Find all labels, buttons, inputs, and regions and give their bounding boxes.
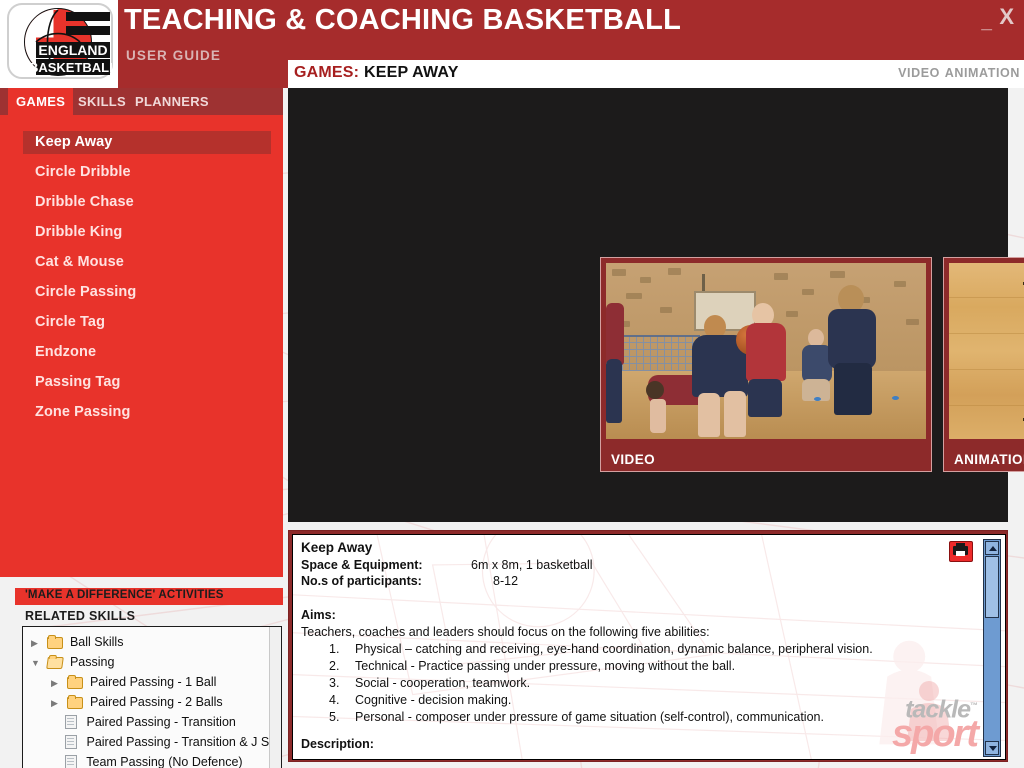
tree-item-passing[interactable]: ▼ Passing bbox=[31, 652, 114, 672]
video-caption: VIDEO bbox=[611, 452, 655, 467]
folder-open-icon bbox=[47, 656, 62, 668]
printer-icon bbox=[953, 546, 968, 555]
tackle-sport-figure-icon bbox=[899, 679, 957, 741]
sidebar-item-endzone[interactable]: Endzone bbox=[23, 341, 271, 364]
aim-text: Personal - composer under pressure of ga… bbox=[355, 710, 824, 724]
sidebar-item-circle-tag[interactable]: Circle Tag bbox=[23, 311, 271, 334]
page-title: KEEP AWAY bbox=[364, 64, 459, 82]
minimize-button[interactable]: _ bbox=[981, 12, 992, 34]
animation-court: 4 2 3 1 T Reds 0 Blues 0 bbox=[949, 263, 1024, 439]
document-icon bbox=[64, 715, 79, 728]
application-window: ENGLAND BASKETBALL TEACHING & COACHING B… bbox=[0, 0, 1024, 768]
participants-value: 8-12 bbox=[493, 574, 518, 588]
related-skills-heading: RELATED SKILLS bbox=[25, 609, 135, 623]
breadcrumb-section: GAMES: bbox=[294, 64, 359, 82]
trademark-symbol: ™ bbox=[970, 701, 977, 710]
app-title: TEACHING & COACHING BASKETBALL bbox=[124, 4, 681, 37]
sidebar-item-circle-passing[interactable]: Circle Passing bbox=[23, 281, 271, 304]
folder-icon bbox=[67, 676, 82, 688]
logo-text-england: ENGLAND bbox=[38, 42, 107, 58]
tree-item-label: Paired Passing - 2 Balls bbox=[90, 695, 223, 709]
chevron-down-icon[interactable]: ▼ bbox=[31, 653, 44, 673]
close-button[interactable]: X bbox=[999, 4, 1014, 30]
scrollbar-thumb[interactable] bbox=[985, 556, 999, 618]
tree-item-paired-passing-transition[interactable]: Paired Passing - Transition bbox=[64, 712, 236, 732]
aim-text: Physical – catching and receiving, eye-h… bbox=[355, 642, 873, 656]
aims-label: Aims: bbox=[301, 608, 336, 622]
tab-animation[interactable]: ANIMATION bbox=[945, 66, 1020, 80]
animation-card[interactable]: 4 2 3 1 T Reds 0 Blues 0 ANIMATION bbox=[943, 257, 1024, 472]
sidebar-item-cat-and-mouse[interactable]: Cat & Mouse bbox=[23, 251, 271, 274]
description-section-label: Description: bbox=[301, 737, 374, 751]
tree-item-label: Passing bbox=[70, 655, 114, 669]
chevron-right-icon[interactable]: ▶ bbox=[31, 633, 44, 653]
tree-item-label: Paired Passing - 1 Ball bbox=[90, 675, 216, 689]
aim-number: 3. bbox=[329, 676, 339, 690]
tree-item-label: Ball Skills bbox=[70, 635, 124, 649]
space-equipment-label: Space & Equipment: bbox=[301, 558, 423, 572]
aim-text: Social - cooperation, teamwork. bbox=[355, 676, 530, 690]
aim-number: 4. bbox=[329, 693, 339, 707]
tree-item-team-passing-no-defence[interactable]: Team Passing (No Defence) bbox=[64, 752, 243, 768]
aim-number: 2. bbox=[329, 659, 339, 673]
left-sidebar: GAMES SKILLS PLANNERS Keep Away Circle D… bbox=[0, 88, 283, 768]
animation-caption: ANIMATION bbox=[954, 452, 1024, 467]
description-panel: Keep Away Space & Equipment: 6m x 8m, 1 … bbox=[288, 530, 1008, 762]
scroll-down-button[interactable] bbox=[985, 741, 999, 755]
make-a-difference-label: 'MAKE A DIFFERENCE' ACTIVITIES bbox=[25, 589, 224, 601]
breadcrumb-bar: GAMES: KEEP AWAY VIDEO ANIMATION bbox=[288, 60, 1024, 88]
tree-item-label: Paired Passing - Transition bbox=[86, 715, 235, 729]
make-a-difference-banner[interactable]: 'MAKE A DIFFERENCE' ACTIVITIES bbox=[15, 588, 283, 605]
tree-item-paired-passing-1-ball[interactable]: ▶ Paired Passing - 1 Ball bbox=[51, 672, 216, 692]
print-button[interactable] bbox=[949, 541, 973, 562]
media-stage: VIDEO 4 2 bbox=[288, 88, 1008, 522]
england-basketball-logo: ENGLAND BASKETBALL bbox=[6, 2, 114, 86]
description-content: Keep Away Space & Equipment: 6m x 8m, 1 … bbox=[292, 534, 1006, 760]
video-frame[interactable] bbox=[606, 263, 926, 439]
tree-item-label: Team Passing (No Defence) bbox=[86, 755, 242, 768]
app-subtitle: USER GUIDE bbox=[126, 48, 221, 63]
tab-planners[interactable]: PLANNERS bbox=[127, 88, 217, 115]
tree-item-paired-passing-transition-js[interactable]: Paired Passing - Transition & J S bbox=[64, 732, 269, 752]
related-skills-tree[interactable]: ▶ Ball Skills ▼ Passing ▶ Paired Passing… bbox=[22, 626, 282, 768]
tab-skills[interactable]: SKILLS bbox=[70, 88, 134, 115]
scroll-up-arrow-icon bbox=[989, 546, 997, 551]
sidebar-item-circle-dribble[interactable]: Circle Dribble bbox=[23, 161, 271, 184]
scroll-up-button[interactable] bbox=[985, 541, 999, 555]
aim-text: Cognitive - decision making. bbox=[355, 693, 511, 707]
tab-video[interactable]: VIDEO bbox=[898, 66, 940, 80]
chevron-right-icon[interactable]: ▶ bbox=[51, 693, 64, 713]
sidebar-item-dribble-chase[interactable]: Dribble Chase bbox=[23, 191, 271, 214]
description-title: Keep Away bbox=[301, 540, 372, 555]
participants-label: No.s of participants: bbox=[301, 574, 422, 588]
tree-item-paired-passing-2-balls[interactable]: ▶ Paired Passing - 2 Balls bbox=[51, 692, 223, 712]
tree-item-ball-skills[interactable]: ▶ Ball Skills bbox=[31, 632, 123, 652]
document-icon bbox=[64, 755, 79, 768]
tree-item-label: Paired Passing - Transition & J S bbox=[86, 735, 269, 749]
space-equipment-value: 6m x 8m, 1 basketball bbox=[471, 558, 593, 572]
folder-icon bbox=[47, 636, 62, 648]
sidebar-item-zone-passing[interactable]: Zone Passing bbox=[23, 401, 271, 424]
sidebar-tabs: GAMES SKILLS PLANNERS bbox=[0, 88, 283, 115]
games-list: Keep Away Circle Dribble Dribble Chase D… bbox=[0, 115, 283, 577]
logo-text-basketball: BASKETBALL bbox=[29, 60, 114, 75]
description-scrollbar[interactable] bbox=[983, 539, 1001, 757]
aim-number: 1. bbox=[329, 642, 339, 656]
chevron-right-icon[interactable]: ▶ bbox=[51, 673, 64, 693]
document-icon bbox=[64, 735, 79, 748]
tab-games[interactable]: GAMES bbox=[8, 88, 73, 115]
animation-frame[interactable]: 4 2 3 1 T Reds 0 Blues 0 bbox=[949, 263, 1024, 439]
aims-lead-text: Teachers, coaches and leaders should foc… bbox=[301, 625, 710, 639]
scroll-down-arrow-icon bbox=[989, 746, 997, 751]
video-still-image bbox=[606, 263, 926, 439]
folder-icon bbox=[67, 696, 82, 708]
sidebar-item-keep-away[interactable]: Keep Away bbox=[23, 131, 271, 154]
sidebar-item-passing-tag[interactable]: Passing Tag bbox=[23, 371, 271, 394]
aim-text: Technical - Practice passing under press… bbox=[355, 659, 735, 673]
tree-scrollbar[interactable] bbox=[269, 627, 281, 768]
aim-number: 5. bbox=[329, 710, 339, 724]
video-card[interactable]: VIDEO bbox=[600, 257, 932, 472]
sidebar-item-dribble-king[interactable]: Dribble King bbox=[23, 221, 271, 244]
